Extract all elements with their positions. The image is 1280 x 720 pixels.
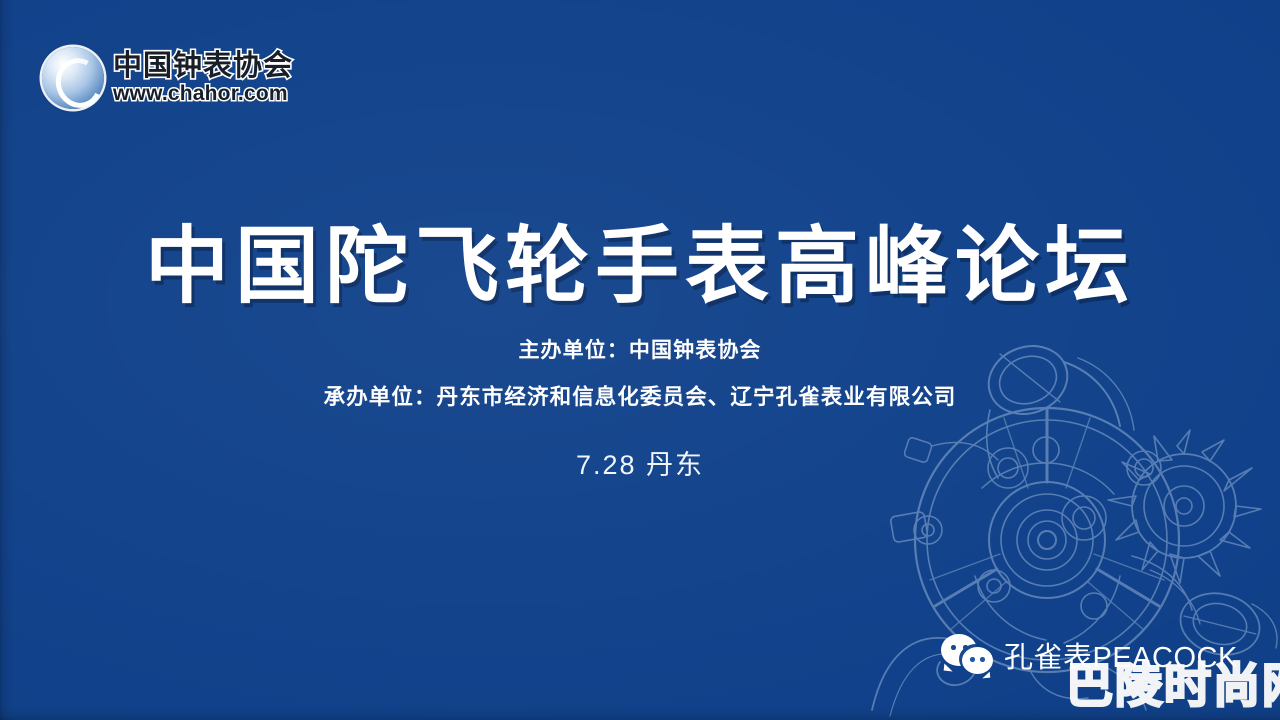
logo-text-group: 中国钟表协会 www.chahor.com	[113, 51, 293, 104]
co-organizer-line: 承办单位：丹东市经济和信息化委员会、辽宁孔雀表业有限公司	[0, 387, 1280, 409]
wechat-icon	[941, 634, 997, 676]
page-title: 中国陀飞轮手表高峰论坛	[0, 222, 1280, 310]
globe-swoosh-icon	[42, 47, 104, 109]
logo-title: 中国钟表协会	[113, 51, 293, 81]
wechat-bubble-small	[962, 647, 993, 674]
logo-url: www.chahor.com	[113, 83, 288, 105]
poster-slide: 中国钟表协会 www.chahor.com 中国陀飞轮手表高峰论坛 主办单位：中…	[0, 0, 1280, 720]
date-location-line: 7.28 丹东	[0, 443, 1280, 482]
wechat-dot	[963, 645, 968, 650]
swoosh-shape	[49, 52, 108, 114]
association-logo: 中国钟表协会 www.chahor.com	[42, 47, 293, 109]
site-watermark: 巴陵时尚网	[1066, 662, 1280, 709]
subtitle-block: 主办单位：中国钟表协会 承办单位：丹东市经济和信息化委员会、辽宁孔雀表业有限公司…	[0, 340, 1280, 482]
wechat-dot	[951, 645, 956, 650]
wechat-dot	[980, 657, 985, 662]
wechat-dot	[970, 657, 975, 662]
organizer-line: 主办单位：中国钟表协会	[0, 340, 1280, 361]
